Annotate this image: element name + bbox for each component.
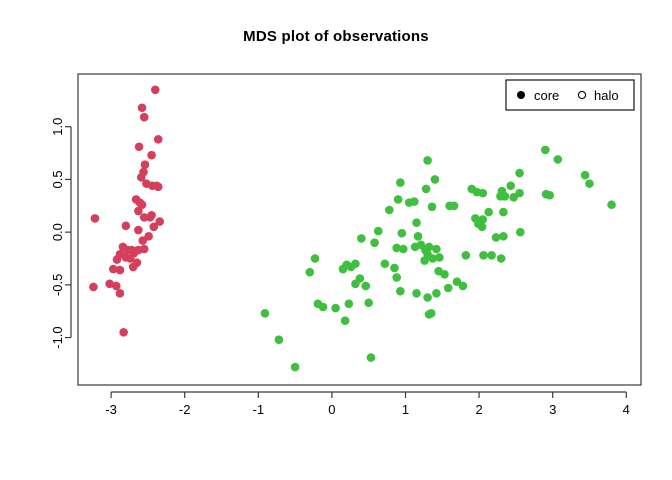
data-point (450, 201, 459, 210)
y-axis: -1.0-0.50.00.51.0 (50, 118, 71, 349)
data-point (140, 245, 149, 254)
data-point (394, 195, 403, 204)
data-point (341, 316, 350, 325)
data-point (135, 142, 144, 151)
x-axis-tick-label: 4 (623, 402, 630, 417)
data-point (129, 263, 138, 272)
data-point (291, 363, 300, 372)
data-point (435, 253, 444, 262)
data-point (151, 86, 160, 95)
data-point (423, 293, 432, 302)
data-point (425, 243, 434, 252)
data-point (399, 245, 408, 254)
data-point (261, 309, 270, 318)
data-point (140, 113, 149, 122)
data-point (478, 223, 487, 232)
data-point (440, 270, 449, 279)
data-point (361, 282, 370, 291)
data-point (484, 208, 493, 217)
legend-label-halo: halo (594, 88, 619, 103)
data-point (150, 223, 159, 232)
data-point (331, 304, 340, 313)
y-axis-tick-label: 0.5 (50, 170, 65, 188)
mds-scatter-plot: -3-2-101234 -1.0-0.50.00.51.0 core halo (0, 0, 672, 480)
legend-halo-open-circle-icon (578, 91, 585, 98)
data-point (119, 328, 128, 337)
data-point (138, 103, 147, 112)
data-point (319, 303, 328, 312)
data-point (492, 233, 501, 242)
data-point (351, 279, 360, 288)
legend: core halo (506, 80, 634, 110)
data-point (141, 160, 150, 169)
data-point (453, 277, 462, 286)
data-point (392, 273, 401, 282)
plot-frame (78, 74, 641, 385)
data-point (444, 284, 453, 293)
data-point (462, 251, 471, 260)
legend-core-filled-circle-icon (517, 91, 525, 99)
y-axis-tick-label: 0.0 (50, 223, 65, 241)
data-point (339, 265, 348, 274)
data-point (398, 229, 407, 238)
data-point (130, 249, 139, 258)
data-point (581, 171, 590, 180)
data-point (516, 228, 525, 237)
data-point (412, 289, 421, 298)
data-point (134, 207, 143, 216)
y-axis-tick-label: -0.5 (50, 274, 65, 296)
y-axis-tick-label: -1.0 (50, 326, 65, 348)
data-point (545, 191, 554, 200)
x-axis-tick-label: 3 (549, 402, 556, 417)
data-point (428, 203, 437, 212)
data-point (91, 214, 100, 223)
legend-label-core: core (534, 88, 559, 103)
data-point (357, 234, 366, 243)
data-point (499, 208, 508, 217)
data-point (364, 298, 373, 307)
data-point (427, 309, 436, 318)
data-point (113, 255, 122, 264)
data-point (420, 256, 429, 265)
data-point (607, 200, 616, 209)
data-point (134, 226, 143, 235)
data-point (499, 232, 508, 241)
data-point (497, 254, 506, 263)
data-point (422, 185, 431, 194)
data-point (585, 179, 594, 188)
data-point (147, 211, 156, 220)
data-point (154, 183, 163, 192)
data-point (370, 238, 379, 247)
data-point (487, 251, 496, 260)
data-point (506, 181, 515, 190)
x-axis-tick-label: -3 (105, 402, 117, 417)
data-point (116, 289, 125, 298)
data-point (479, 251, 488, 260)
series-cluster-2 (261, 146, 616, 372)
data-point (381, 259, 390, 268)
data-point (473, 188, 482, 197)
x-axis: -3-2-101234 (105, 392, 630, 417)
data-point (396, 178, 405, 187)
data-point (515, 169, 524, 178)
data-point (122, 222, 131, 231)
series-cluster-1 (89, 86, 164, 337)
data-point (147, 151, 156, 160)
data-point (306, 268, 315, 277)
data-point (423, 156, 432, 165)
y-axis-tick-label: 1.0 (50, 118, 65, 136)
data-point (138, 236, 147, 245)
data-point (396, 287, 405, 296)
data-point (351, 259, 360, 268)
data-point (412, 218, 421, 227)
data-point (116, 266, 125, 275)
data-point (410, 197, 419, 206)
data-points-layer (89, 86, 616, 372)
data-point (431, 175, 440, 184)
data-point (89, 283, 98, 292)
chart-canvas: MDS plot of observations -3-2-101234 -1.… (0, 0, 672, 480)
data-point (509, 193, 518, 202)
data-point (554, 155, 563, 164)
x-axis-tick-label: 2 (475, 402, 482, 417)
data-point (275, 335, 284, 344)
data-point (345, 300, 354, 309)
data-point (496, 192, 505, 201)
x-axis-tick-label: 0 (328, 402, 335, 417)
data-point (432, 289, 441, 298)
data-point (432, 245, 441, 254)
data-point (367, 353, 376, 362)
data-point (154, 135, 163, 144)
data-point (541, 146, 550, 155)
data-point (414, 232, 423, 241)
data-point (390, 264, 399, 273)
x-axis-tick-label: -1 (253, 402, 265, 417)
x-axis-tick-label: 1 (402, 402, 409, 417)
data-point (385, 206, 394, 215)
data-point (374, 227, 383, 236)
data-point (112, 282, 121, 291)
x-axis-tick-label: -2 (179, 402, 191, 417)
data-point (311, 254, 320, 263)
